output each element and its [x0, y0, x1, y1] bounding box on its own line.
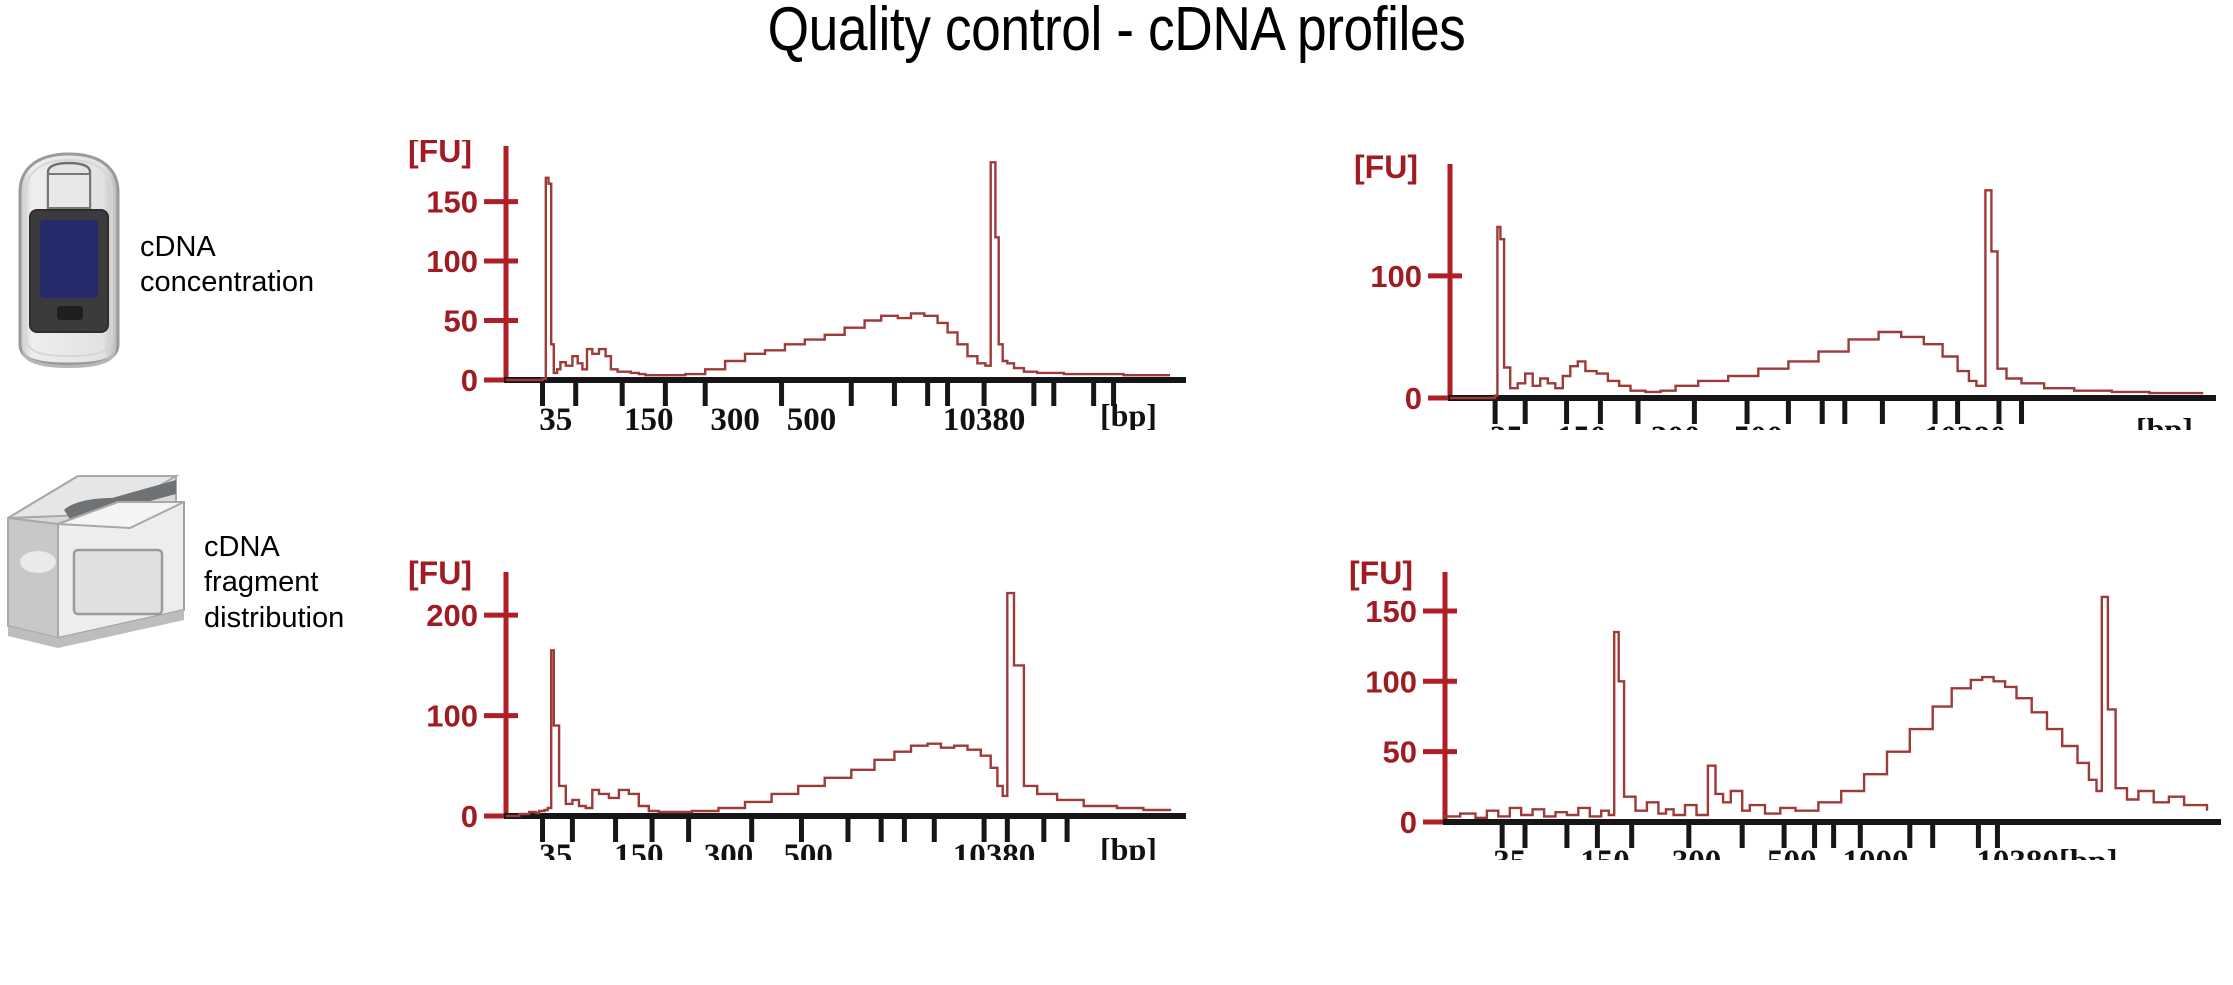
chart-4-xtick-label: 10380[bp] — [1976, 844, 2117, 860]
chart-1-ytick-label: 0 — [461, 363, 478, 398]
page-title: Quality control - cDNA profiles — [156, 0, 2076, 65]
chart-1-xtick-label: 150 — [624, 402, 674, 430]
electropherogram-chart-2: [FU] 0100 3515030050010380 [bp] — [1350, 150, 2220, 435]
chart-3-trace — [506, 593, 1170, 816]
chart-1-xtick-label: 10380 — [943, 402, 1026, 430]
chart-4-ytick-label: 150 — [1365, 594, 1417, 629]
chart-1-xtick-label: 35 — [539, 402, 572, 430]
chart-1-ytick-label: 150 — [426, 185, 478, 220]
chart-2-trace — [1450, 190, 2202, 398]
chart-1-y-unit: [FU] — [408, 140, 472, 169]
chart-1-trace — [506, 162, 1170, 380]
chart-2-ytick-label: 0 — [1405, 381, 1422, 416]
legend-row-cdna-fragment-distribution: cDNA fragment distribution — [0, 458, 419, 658]
chart-1-xtick-label: 500 — [787, 402, 837, 430]
chart-2-xtick-label: 300 — [1651, 420, 1701, 430]
electropherogram-chart-1: [FU] 050100150 3515030050010380 [bp] — [400, 140, 1190, 435]
legend-row-cdna-concentration: cDNA concentration — [8, 148, 370, 370]
chart-2-ytick-label: 100 — [1370, 259, 1422, 294]
chart-3-xtick-label: 300 — [704, 838, 754, 860]
chart-4-xtick-label: 1000 — [1843, 844, 1909, 860]
chart-4-y-unit: [FU] — [1349, 560, 1413, 591]
chart-3-xtick-label: 10380 — [953, 838, 1036, 860]
chart-2-xtick-label: 10380 — [1924, 420, 2007, 430]
chart-3-xtick-label: 35 — [539, 838, 572, 860]
chart-1-ytick-label: 50 — [444, 304, 478, 339]
chart-4-xtick-label: 150 — [1580, 844, 1630, 860]
chart-1-x-unit: [bp] — [1100, 397, 1157, 430]
chart-4-ytick-label: 0 — [1400, 805, 1417, 840]
chart-3-x-unit: [bp] — [1100, 831, 1157, 860]
electropherogram-chart-3: [FU] 0100200 3515030050010380 [bp] — [400, 560, 1190, 865]
chart-4-xtick-label: 35 — [1493, 844, 1526, 860]
chart-2-y-unit: [FU] — [1354, 150, 1418, 185]
chart-3-ytick-label: 100 — [426, 699, 478, 734]
chart-4-trace — [1445, 597, 2207, 818]
chart-3-ytick-label: 200 — [426, 598, 478, 633]
chart-1-xtick-label: 300 — [710, 402, 760, 430]
chart-2-xtick-label: 35 — [1490, 420, 1523, 430]
chart-2-xtick-label: 150 — [1557, 420, 1607, 430]
chart-2-xtick-label: 500 — [1734, 420, 1784, 430]
chart-2-x-unit: [bp] — [2136, 411, 2193, 430]
bioanalyzer-icon — [0, 458, 192, 658]
chart-3-y-unit: [FU] — [408, 560, 472, 591]
chart-4-ytick-label: 50 — [1383, 735, 1417, 770]
spectrophotometer-icon — [8, 148, 130, 370]
legend-label-cdna-concentration: cDNA concentration — [140, 230, 370, 301]
chart-4-xtick-label: 300 — [1672, 844, 1722, 860]
chart-1-ytick-label: 100 — [426, 244, 478, 279]
chart-4-xtick-label: 500 — [1767, 844, 1817, 860]
chart-4-ytick-label: 100 — [1365, 664, 1417, 699]
legend-label-cdna-fragment-distribution: cDNA fragment distribution — [204, 530, 419, 636]
electropherogram-chart-4: [FU] 050100150 35150300500100010380[bp] — [1345, 560, 2225, 865]
chart-3-xtick-label: 150 — [614, 838, 664, 860]
chart-3-xtick-label: 500 — [783, 838, 833, 860]
chart-3-ytick-label: 0 — [461, 799, 478, 834]
